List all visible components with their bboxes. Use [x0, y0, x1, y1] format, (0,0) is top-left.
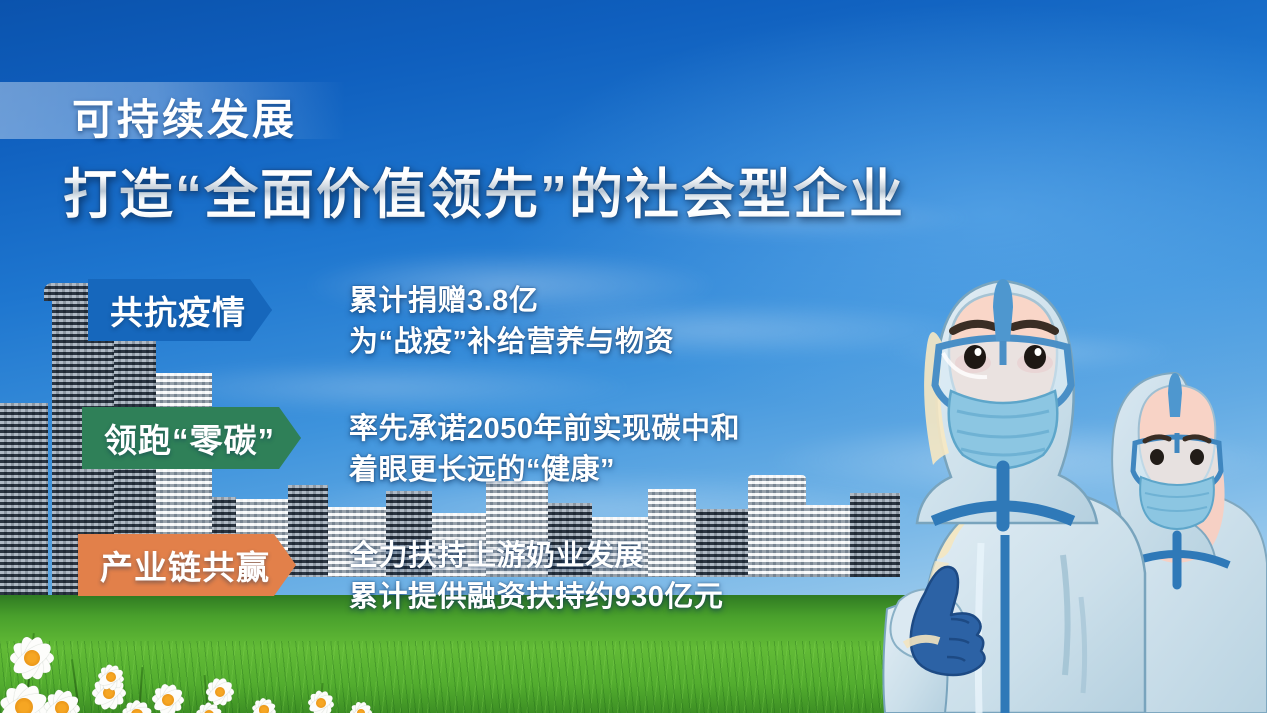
daisy-flower — [0, 683, 48, 713]
daisy-flower — [252, 698, 276, 713]
daisy-flower — [10, 636, 54, 680]
eyebrow-title: 可持续发展 — [72, 86, 297, 147]
daisy-flower — [308, 690, 334, 713]
row-line-2: 为“战疫”补给营养与物资 — [349, 322, 674, 363]
row-tag-zero-carbon[interactable]: 领跑“零碳” — [82, 407, 301, 469]
page-title: 打造“全面价值领先”的社会型企业 — [63, 150, 905, 229]
row-tag-label: 产业链共赢 — [100, 541, 270, 589]
row-line-2: 累计提供融资扶持约930亿元 — [349, 577, 723, 618]
daisy-flower — [350, 702, 372, 713]
slide-canvas: 可持续发展 打造“全面价值领先”的社会型企业 打造“全面价值领先”的社会型企业 … — [0, 0, 1267, 713]
medical-workers-illustration — [877, 205, 1267, 713]
row-body-pandemic: 累计捐赠3.8亿 为“战疫”补给营养与物资 — [349, 281, 674, 363]
row-line-1: 累计捐赠3.8亿 — [349, 281, 674, 322]
daisy-flower — [152, 684, 184, 713]
row-line-1: 率先承诺2050年前实现碳中和 — [349, 409, 740, 450]
daisy-flower — [44, 690, 80, 713]
daisy-flower — [206, 678, 234, 706]
row-tag-label: 共抗疫情 — [110, 286, 246, 334]
daisy-flower — [122, 700, 152, 713]
daisy-flower — [98, 664, 124, 690]
worker-front — [883, 279, 1145, 713]
row-line-2: 着眼更长远的“健康” — [349, 450, 740, 491]
skyscraper — [0, 403, 48, 595]
row-tag-label: 领跑“零碳” — [104, 414, 275, 462]
row-tag-supply-chain[interactable]: 产业链共赢 — [78, 534, 296, 596]
row-line-1: 全力扶持上游奶业发展 — [349, 536, 723, 577]
row-body-supply-chain: 全力扶持上游奶业发展 累计提供融资扶持约930亿元 — [349, 536, 723, 618]
row-body-zero-carbon: 率先承诺2050年前实现碳中和 着眼更长远的“健康” — [349, 409, 740, 491]
row-tag-pandemic[interactable]: 共抗疫情 — [88, 279, 272, 341]
